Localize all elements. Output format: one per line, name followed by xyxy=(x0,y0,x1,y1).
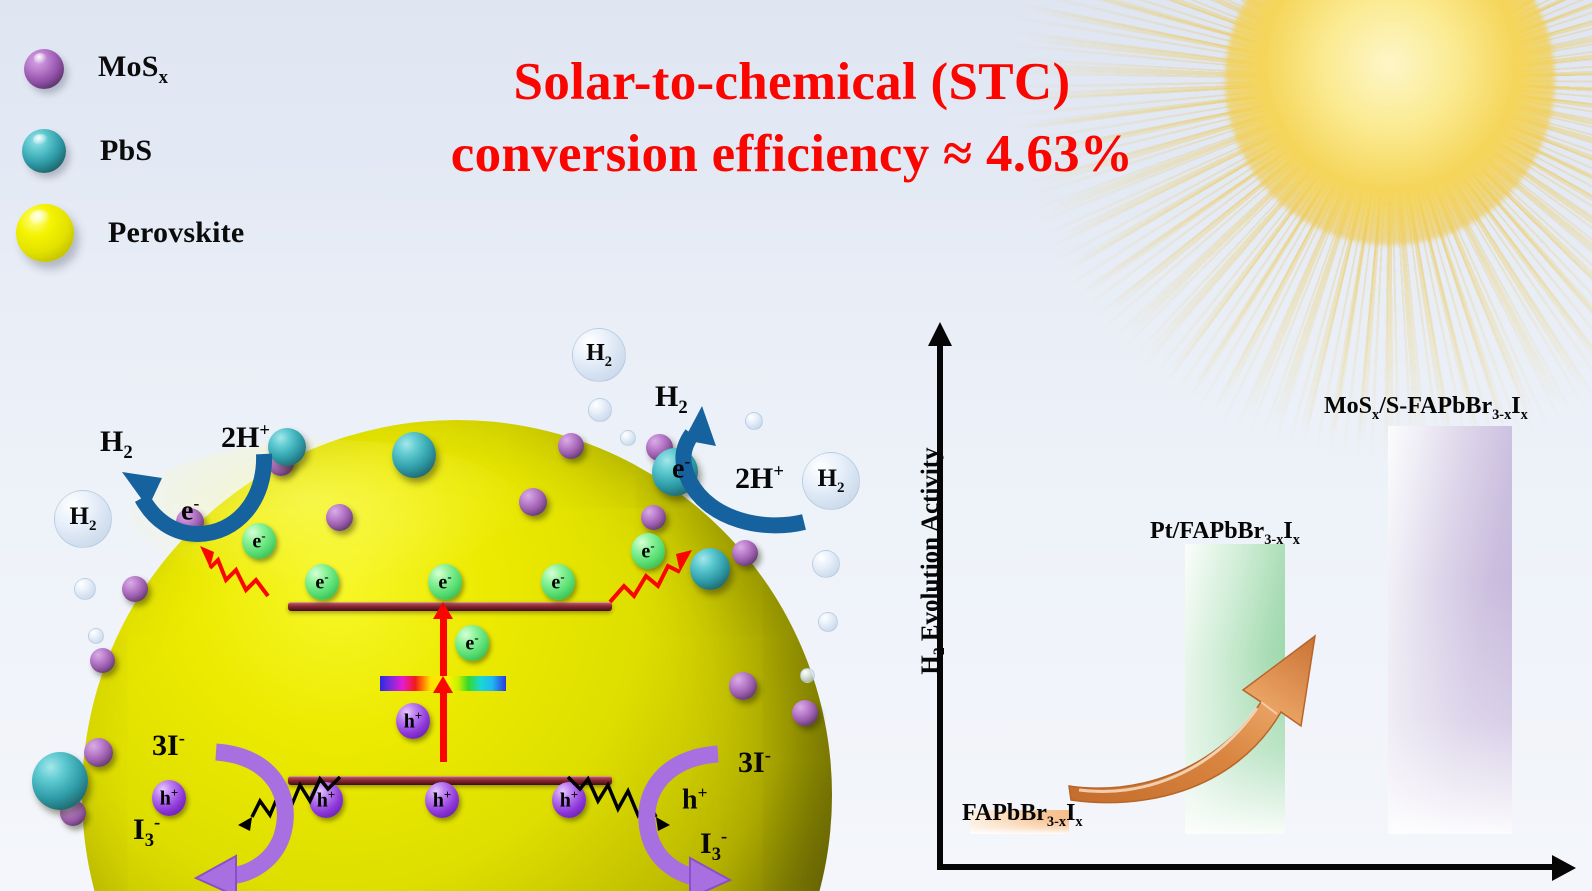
pbs-sphere-icon xyxy=(22,129,66,173)
hole-carrier-midgap: h+ xyxy=(396,703,430,739)
small-bubble xyxy=(74,578,96,600)
excitation-arrow-upper-head xyxy=(433,602,453,619)
small-bubble xyxy=(620,430,636,446)
y-axis-arrowhead xyxy=(928,322,952,346)
mosx-sphere-icon xyxy=(24,49,64,89)
h2-bubble: H2 xyxy=(54,490,112,548)
legend-item-pbs: PbS xyxy=(14,110,244,192)
excitation-arrow-lower-head xyxy=(433,676,453,693)
electron-carrier: e- xyxy=(428,564,462,600)
small-bubble xyxy=(818,612,838,632)
small-bubble xyxy=(88,628,104,644)
electron-carrier: e- xyxy=(305,564,339,600)
electron-label-right: e- xyxy=(672,452,690,485)
title-line-1: Solar-to-chemical (STC) xyxy=(362,46,1222,118)
electron-label-left: e- xyxy=(181,494,199,527)
surface-nanoparticle-mosx xyxy=(558,433,584,459)
surface-nanoparticle-pbs xyxy=(690,548,730,590)
triiodide-label-left: I3- xyxy=(133,812,160,852)
upward-trend-arrow xyxy=(1065,590,1345,810)
legend-item-mosx: MoSx xyxy=(14,28,244,110)
iodide-redox-arrow-right xyxy=(620,742,750,891)
surface-nanoparticle-mosx xyxy=(122,576,148,602)
h2-bubble-label: H2 xyxy=(586,340,612,371)
bar-mosx-s-fapbbr3xix xyxy=(1388,426,1512,834)
surface-nanoparticle-mosx xyxy=(519,488,547,516)
small-bubble xyxy=(588,398,612,422)
h2-bubble-label: H2 xyxy=(70,503,97,535)
surface-nanoparticle-mosx xyxy=(84,738,113,767)
surface-nanoparticle-pbs xyxy=(392,432,436,478)
graphical-abstract: Solar-to-chemical (STC) conversion effic… xyxy=(0,0,1592,891)
electron-carrier-midgap: e- xyxy=(455,625,489,661)
triiodide-label-right: I3- xyxy=(700,826,727,866)
h2-bubble: H2 xyxy=(572,328,626,382)
hole-carrier: h+ xyxy=(425,782,459,818)
electron-label: e- xyxy=(465,631,478,656)
hole-label: h+ xyxy=(160,786,178,811)
title-line-2: conversion efficiency ≈ 4.63% xyxy=(362,118,1222,190)
bar-label-mosx-s-fapbbr3xix: MoSx/S-FAPbBr3-xIx xyxy=(1324,393,1528,424)
surface-nanoparticle-mosx xyxy=(729,672,757,700)
electron-carrier: e- xyxy=(541,564,575,600)
legend: MoSx PbS Perovskite xyxy=(14,28,244,274)
excitation-arrow-lower-shaft xyxy=(440,690,447,762)
surface-nanoparticle-mosx xyxy=(90,648,115,673)
electron-label: e- xyxy=(438,570,451,595)
electron-label: e- xyxy=(315,570,328,595)
surface-nanoparticle-mosx xyxy=(792,700,818,726)
sun-core xyxy=(1225,0,1555,245)
page-title: Solar-to-chemical (STC) conversion effic… xyxy=(362,46,1222,190)
x-axis-arrowhead xyxy=(1552,855,1576,881)
proton-label-right: 2H+ xyxy=(735,461,784,496)
surface-nanoparticle-mosx xyxy=(326,504,353,531)
hole-label: h+ xyxy=(404,709,422,734)
excitation-arrow-upper-shaft xyxy=(440,618,447,676)
bar-label-pt-fapbbr3xix: Pt/FAPbBr3-xIx xyxy=(1150,518,1300,549)
legend-label-pbs: PbS xyxy=(100,134,152,168)
h2-label-left: H2 xyxy=(100,425,133,464)
x-axis-line xyxy=(937,864,1560,870)
electron-label: e- xyxy=(551,570,564,595)
small-bubble xyxy=(800,668,815,683)
hole-label: h+ xyxy=(433,788,451,813)
h2-evolution-activity-chart: H2 Evolution Activity FAPbBr3-xIx Pt/FAP… xyxy=(900,330,1592,891)
legend-label-mosx: MoSx xyxy=(98,50,168,89)
y-axis-label: H2 Evolution Activity xyxy=(917,436,949,686)
h2-label-right: H2 xyxy=(655,380,688,419)
small-bubble xyxy=(812,550,840,578)
perovskite-sphere-icon xyxy=(16,204,74,262)
legend-item-perovskite: Perovskite xyxy=(14,192,244,274)
hole-label-right: h+ xyxy=(682,783,707,816)
surface-nanoparticle-pbs xyxy=(32,752,88,810)
iodide-label-right: 3I- xyxy=(738,745,771,780)
iodide-label-left: 3I- xyxy=(152,728,185,763)
proton-label-left: 2H+ xyxy=(221,420,270,455)
h2-evolution-arrow-right xyxy=(644,404,824,544)
legend-label-perovskite: Perovskite xyxy=(108,216,244,250)
iodide-redox-arrow-left xyxy=(178,742,308,891)
